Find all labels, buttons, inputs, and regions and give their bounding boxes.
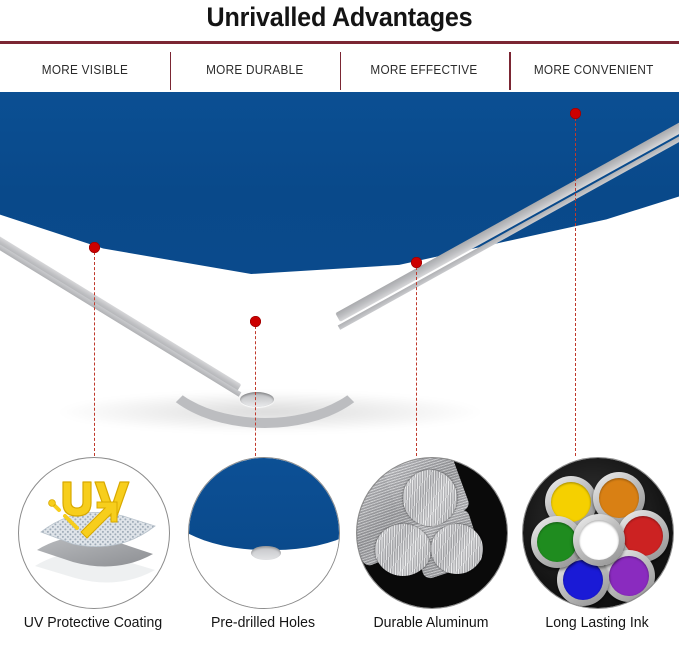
benefit-item-more-effective: MORE EFFECTIVE (340, 48, 510, 92)
callout-dot-uv-coating (89, 242, 100, 253)
uv-coating-icon (18, 457, 170, 609)
feature-label: UV Protective Coating (11, 615, 176, 631)
aluminum-bar-face-right (431, 524, 483, 574)
feature-durable-aluminum[interactable]: Durable Aluminum (346, 455, 516, 659)
callout-leader-drilled-hole (255, 326, 256, 456)
drilled-hole-illustration (189, 458, 339, 608)
ink-can-white (573, 514, 625, 566)
ink-cans-icon (522, 457, 674, 609)
feature-long-lasting-ink[interactable]: Long Lasting Ink (512, 455, 679, 659)
callout-dot-aluminum (411, 257, 422, 268)
pre-drilled-hole (240, 392, 274, 407)
aluminum-illustration (357, 458, 507, 608)
uv-coating-illustration (19, 458, 169, 608)
callout-leader-uv-coating (94, 252, 95, 456)
benefit-row: MORE VISIBLE MORE DURABLE MORE EFFECTIVE… (0, 48, 679, 92)
feature-label: Pre-drilled Holes (181, 615, 346, 631)
benefit-label: MORE CONVENIENT (534, 63, 654, 77)
title-divider (0, 41, 679, 44)
page-title: Unrivalled Advantages (24, 2, 655, 33)
benefit-item-more-visible: MORE VISIBLE (0, 48, 170, 92)
header: Unrivalled Advantages MORE VISIBLE MORE … (0, 0, 679, 92)
callout-dot-ink (570, 108, 581, 119)
feature-uv-protective-coating[interactable]: UV Protective Coating (8, 455, 178, 659)
benefit-item-more-convenient: MORE CONVENIENT (509, 48, 679, 92)
hole-opening (251, 546, 281, 560)
benefit-label: MORE DURABLE (206, 63, 303, 77)
feature-label: Durable Aluminum (349, 615, 514, 631)
callout-leader-ink (575, 118, 576, 456)
aluminum-bars-icon (356, 457, 508, 609)
product-photo (0, 92, 679, 455)
aluminum-bar-face-left (375, 524, 431, 576)
benefit-item-more-durable: MORE DURABLE (170, 48, 340, 92)
callout-dot-drilled-hole (250, 316, 261, 327)
feature-pre-drilled-holes[interactable]: Pre-drilled Holes (178, 455, 348, 659)
aluminum-bar-face-top (403, 470, 457, 526)
callout-leader-aluminum (416, 267, 417, 456)
ink-cans-illustration (523, 458, 673, 608)
benefit-label: MORE VISIBLE (42, 63, 128, 77)
feature-row: UV Protective Coating Pre-drilled Holes (0, 455, 679, 659)
hole-blue-face (188, 457, 340, 550)
drilled-hole-icon (188, 457, 340, 609)
feature-label: Long Lasting Ink (515, 615, 679, 631)
benefit-label: MORE EFFECTIVE (371, 63, 478, 77)
